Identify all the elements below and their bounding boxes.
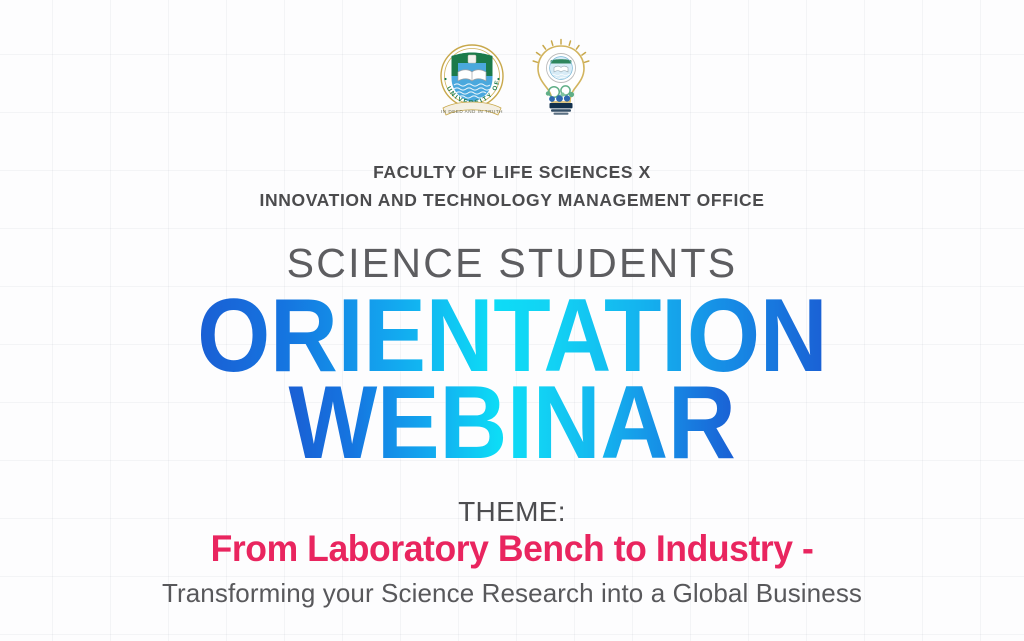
event-title: ORIENTATION WEBINAR — [164, 290, 860, 471]
faculty-line: FACULTY OF LIFE SCIENCES X — [260, 158, 765, 186]
event-title-line-webinar: WEBINAR — [288, 377, 735, 471]
office-line: INNOVATION AND TECHNOLOGY MANAGEMENT OFF… — [260, 186, 765, 214]
svg-text:IN DEED AND IN TRUTH: IN DEED AND IN TRUTH — [441, 109, 503, 114]
theme-subheadline: Transforming your Science Research into … — [162, 579, 862, 608]
theme-label: THEME: — [162, 497, 862, 526]
poster-content: UNIVERSITY OF LAGOS IN DEED AND IN TRUTH — [0, 0, 1024, 641]
logo-row: UNIVERSITY OF LAGOS IN DEED AND IN TRUTH — [430, 36, 594, 128]
theme-headline: From Laboratory Bench to Industry - — [176, 528, 848, 569]
university-of-lagos-crest-icon: UNIVERSITY OF LAGOS IN DEED AND IN TRUTH — [430, 36, 514, 128]
organisation-header: FACULTY OF LIFE SCIENCES X INNOVATION AN… — [260, 158, 765, 215]
theme-block: THEME: From Laboratory Bench to Industry… — [162, 497, 862, 607]
innovation-technology-management-office-logo-icon — [528, 36, 594, 128]
orientation-webinar-poster: UNIVERSITY OF LAGOS IN DEED AND IN TRUTH — [0, 0, 1024, 641]
